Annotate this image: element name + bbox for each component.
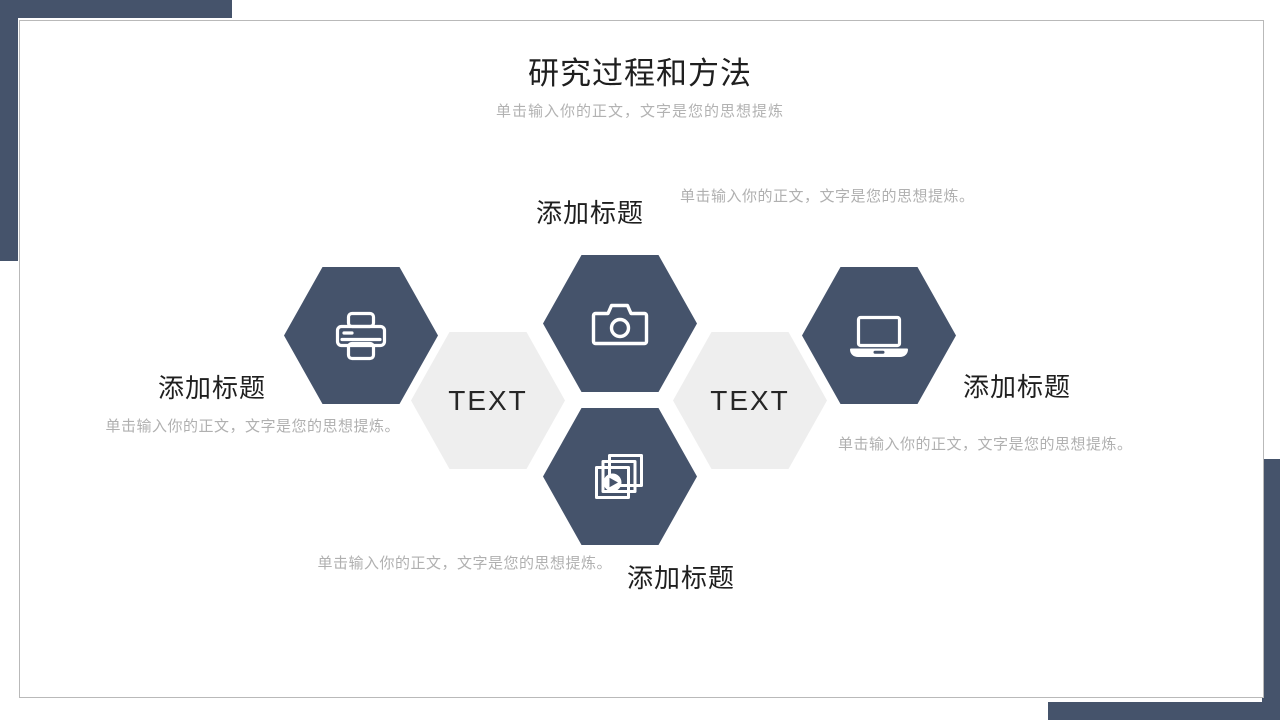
hexagon-text-right-label: TEXT [710,385,790,417]
callout-right-body: 单击输入你的正文，文字是您的思想提炼。 [838,434,1138,457]
callout-left-body: 单击输入你的正文，文字是您的思想提炼。 [100,416,400,439]
callout-bottom-body: 单击输入你的正文，文字是您的思想提炼。 [312,553,612,576]
camera-icon [591,299,649,349]
callout-left-title: 添加标题 [158,368,266,405]
laptop-icon [848,312,910,360]
corner-decoration-bottom-right-horizontal [1048,702,1280,720]
callout-top-body: 单击输入你的正文，文字是您的思想提炼。 [680,186,980,209]
corner-decoration-bottom-right-vertical [1262,459,1280,720]
callout-bottom-title: 添加标题 [627,558,735,595]
callout-right-title: 添加标题 [963,367,1071,404]
page-subtitle: 单击输入你的正文，文字是您的思想提炼 [0,100,1280,121]
media-stack-play-icon [592,451,648,503]
hexagon-text-left-label: TEXT [448,385,528,417]
page-title: 研究过程和方法 [0,55,1280,92]
printer-icon [333,310,389,362]
slide-header: 研究过程和方法 单击输入你的正文，文字是您的思想提炼 [0,55,1280,121]
callout-top-title: 添加标题 [536,193,644,230]
corner-decoration-top-left-horizontal [0,0,232,18]
slide-canvas: 研究过程和方法 单击输入你的正文，文字是您的思想提炼 TEXT TEXT [0,0,1280,720]
corner-decoration-top-left-vertical [0,0,18,261]
